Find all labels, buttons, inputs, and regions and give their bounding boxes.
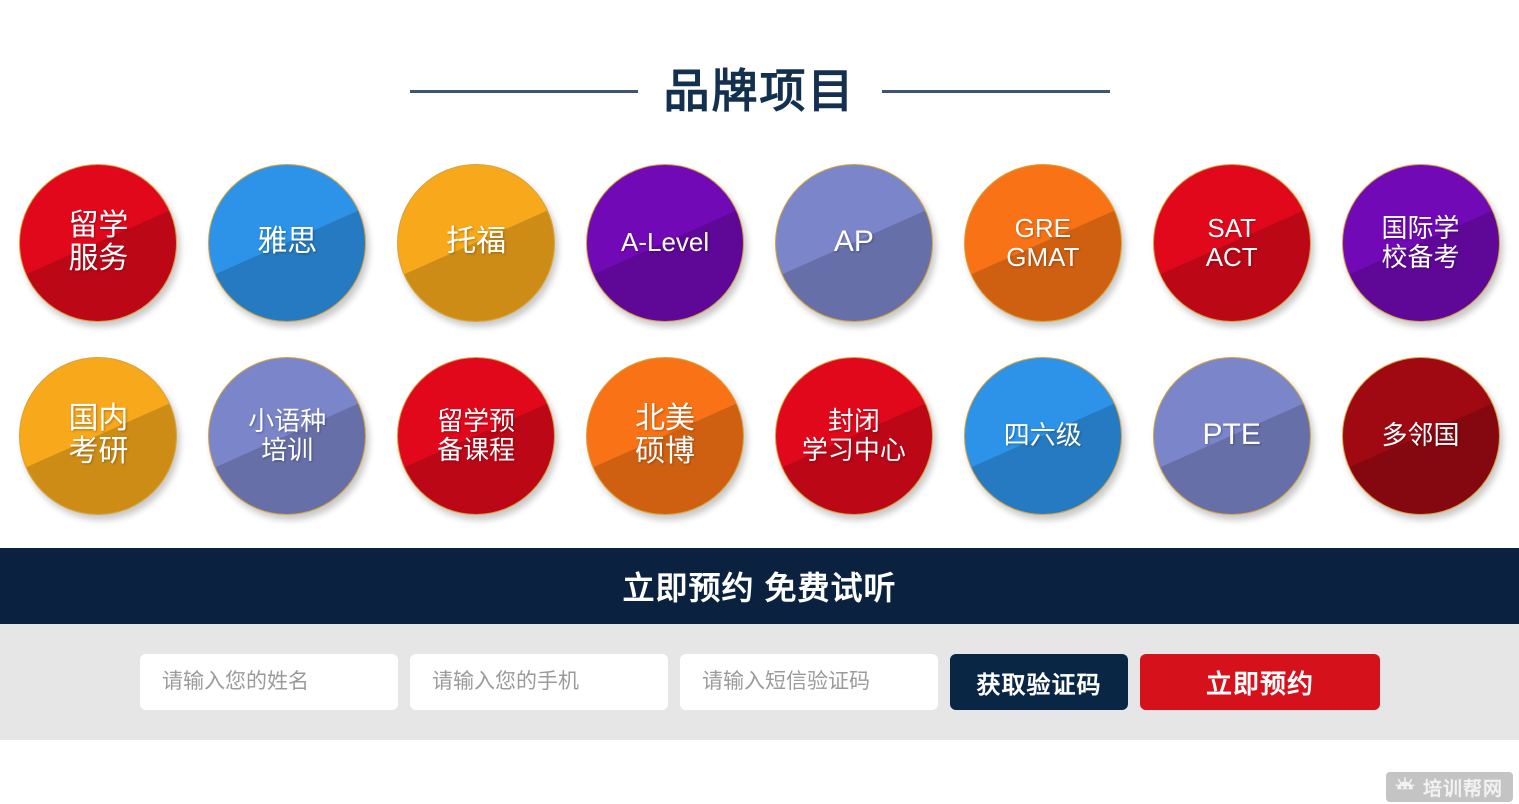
program-circle-cell: 留学预 备课程 (394, 353, 559, 518)
heading-rule-right (882, 90, 1110, 93)
program-circle-cell: A-Level (583, 160, 748, 325)
program-circle[interactable]: 国际学 校备考 (1342, 164, 1500, 322)
program-circle-cell: 雅思 (205, 160, 370, 325)
section-heading: 品牌项目 (0, 0, 1519, 160)
program-circle-cell: 北美 硕博 (583, 353, 748, 518)
program-circle-label: 四六级 (998, 421, 1088, 449)
program-circle-label: 留学预 备课程 (431, 407, 521, 463)
cta-banner-text: 立即预约 免费试听 (623, 563, 897, 609)
watermark-badge: 培训帮网 (1386, 772, 1513, 802)
program-circle-label: 国内 考研 (62, 403, 134, 468)
page-title: 品牌项目 (664, 68, 856, 114)
program-circle-label: AP (828, 226, 880, 258)
program-circle-label: GRE GMAT (1000, 214, 1085, 270)
program-circle-cell: SAT ACT (1149, 160, 1314, 325)
phone-input[interactable] (410, 654, 668, 710)
program-circle-label: SAT ACT (1200, 214, 1264, 270)
get-verification-code-button[interactable]: 获取验证码 (950, 654, 1128, 710)
program-circle-cell: PTE (1149, 353, 1314, 518)
program-circle[interactable]: A-Level (586, 164, 744, 322)
program-circle-label: 托福 (440, 226, 512, 258)
program-circle[interactable]: 四六级 (964, 357, 1122, 515)
program-circle-label: 雅思 (251, 226, 323, 258)
program-circle[interactable]: SAT ACT (1153, 164, 1311, 322)
program-circle-cell: 国际学 校备考 (1338, 160, 1503, 325)
program-circle[interactable]: AP (775, 164, 933, 322)
program-circle-cell: 封闭 学习中心 (771, 353, 936, 518)
program-circle-label: 国际学 校备考 (1376, 214, 1466, 270)
watermark-text: 培训帮网 (1423, 774, 1503, 801)
sun-face-icon (1394, 776, 1416, 798)
program-circle-label: 留学 服务 (62, 210, 134, 275)
program-circle[interactable]: 留学 服务 (19, 164, 177, 322)
program-circle-cell: 国内 考研 (16, 353, 181, 518)
program-circle[interactable]: 多邻国 (1342, 357, 1500, 515)
program-circle-label: 北美 硕博 (629, 403, 701, 468)
name-input[interactable] (140, 654, 398, 710)
program-circle[interactable]: 托福 (397, 164, 555, 322)
program-circle-label: 小语种 培训 (242, 407, 332, 463)
program-circle-label: PTE (1197, 419, 1267, 451)
program-circle-grid: 留学 服务雅思托福A-LevelAPGRE GMATSAT ACT国际学 校备考… (0, 160, 1519, 518)
booking-form: 获取验证码 立即预约 (0, 624, 1519, 740)
program-circle-label: 多邻国 (1376, 421, 1466, 449)
program-circle[interactable]: PTE (1153, 357, 1311, 515)
program-circle-cell: 四六级 (960, 353, 1125, 518)
program-circle-cell: 托福 (394, 160, 559, 325)
program-circle[interactable]: 北美 硕博 (586, 357, 744, 515)
program-circle[interactable]: 留学预 备课程 (397, 357, 555, 515)
program-circle[interactable]: 国内 考研 (19, 357, 177, 515)
program-circle[interactable]: 雅思 (208, 164, 366, 322)
program-circle[interactable]: 小语种 培训 (208, 357, 366, 515)
heading-rule-left (410, 90, 638, 93)
program-circle[interactable]: GRE GMAT (964, 164, 1122, 322)
program-circle-cell: 小语种 培训 (205, 353, 370, 518)
program-circle-cell: 多邻国 (1338, 353, 1503, 518)
cta-banner: 立即预约 免费试听 (0, 548, 1519, 624)
program-circle-cell: AP (771, 160, 936, 325)
sms-code-input[interactable] (680, 654, 938, 710)
program-circle-cell: 留学 服务 (16, 160, 181, 325)
program-circle-label: 封闭 学习中心 (796, 407, 912, 463)
submit-booking-button[interactable]: 立即预约 (1140, 654, 1380, 710)
program-circle-label: A-Level (615, 228, 715, 256)
program-circle-cell: GRE GMAT (960, 160, 1125, 325)
program-circle[interactable]: 封闭 学习中心 (775, 357, 933, 515)
